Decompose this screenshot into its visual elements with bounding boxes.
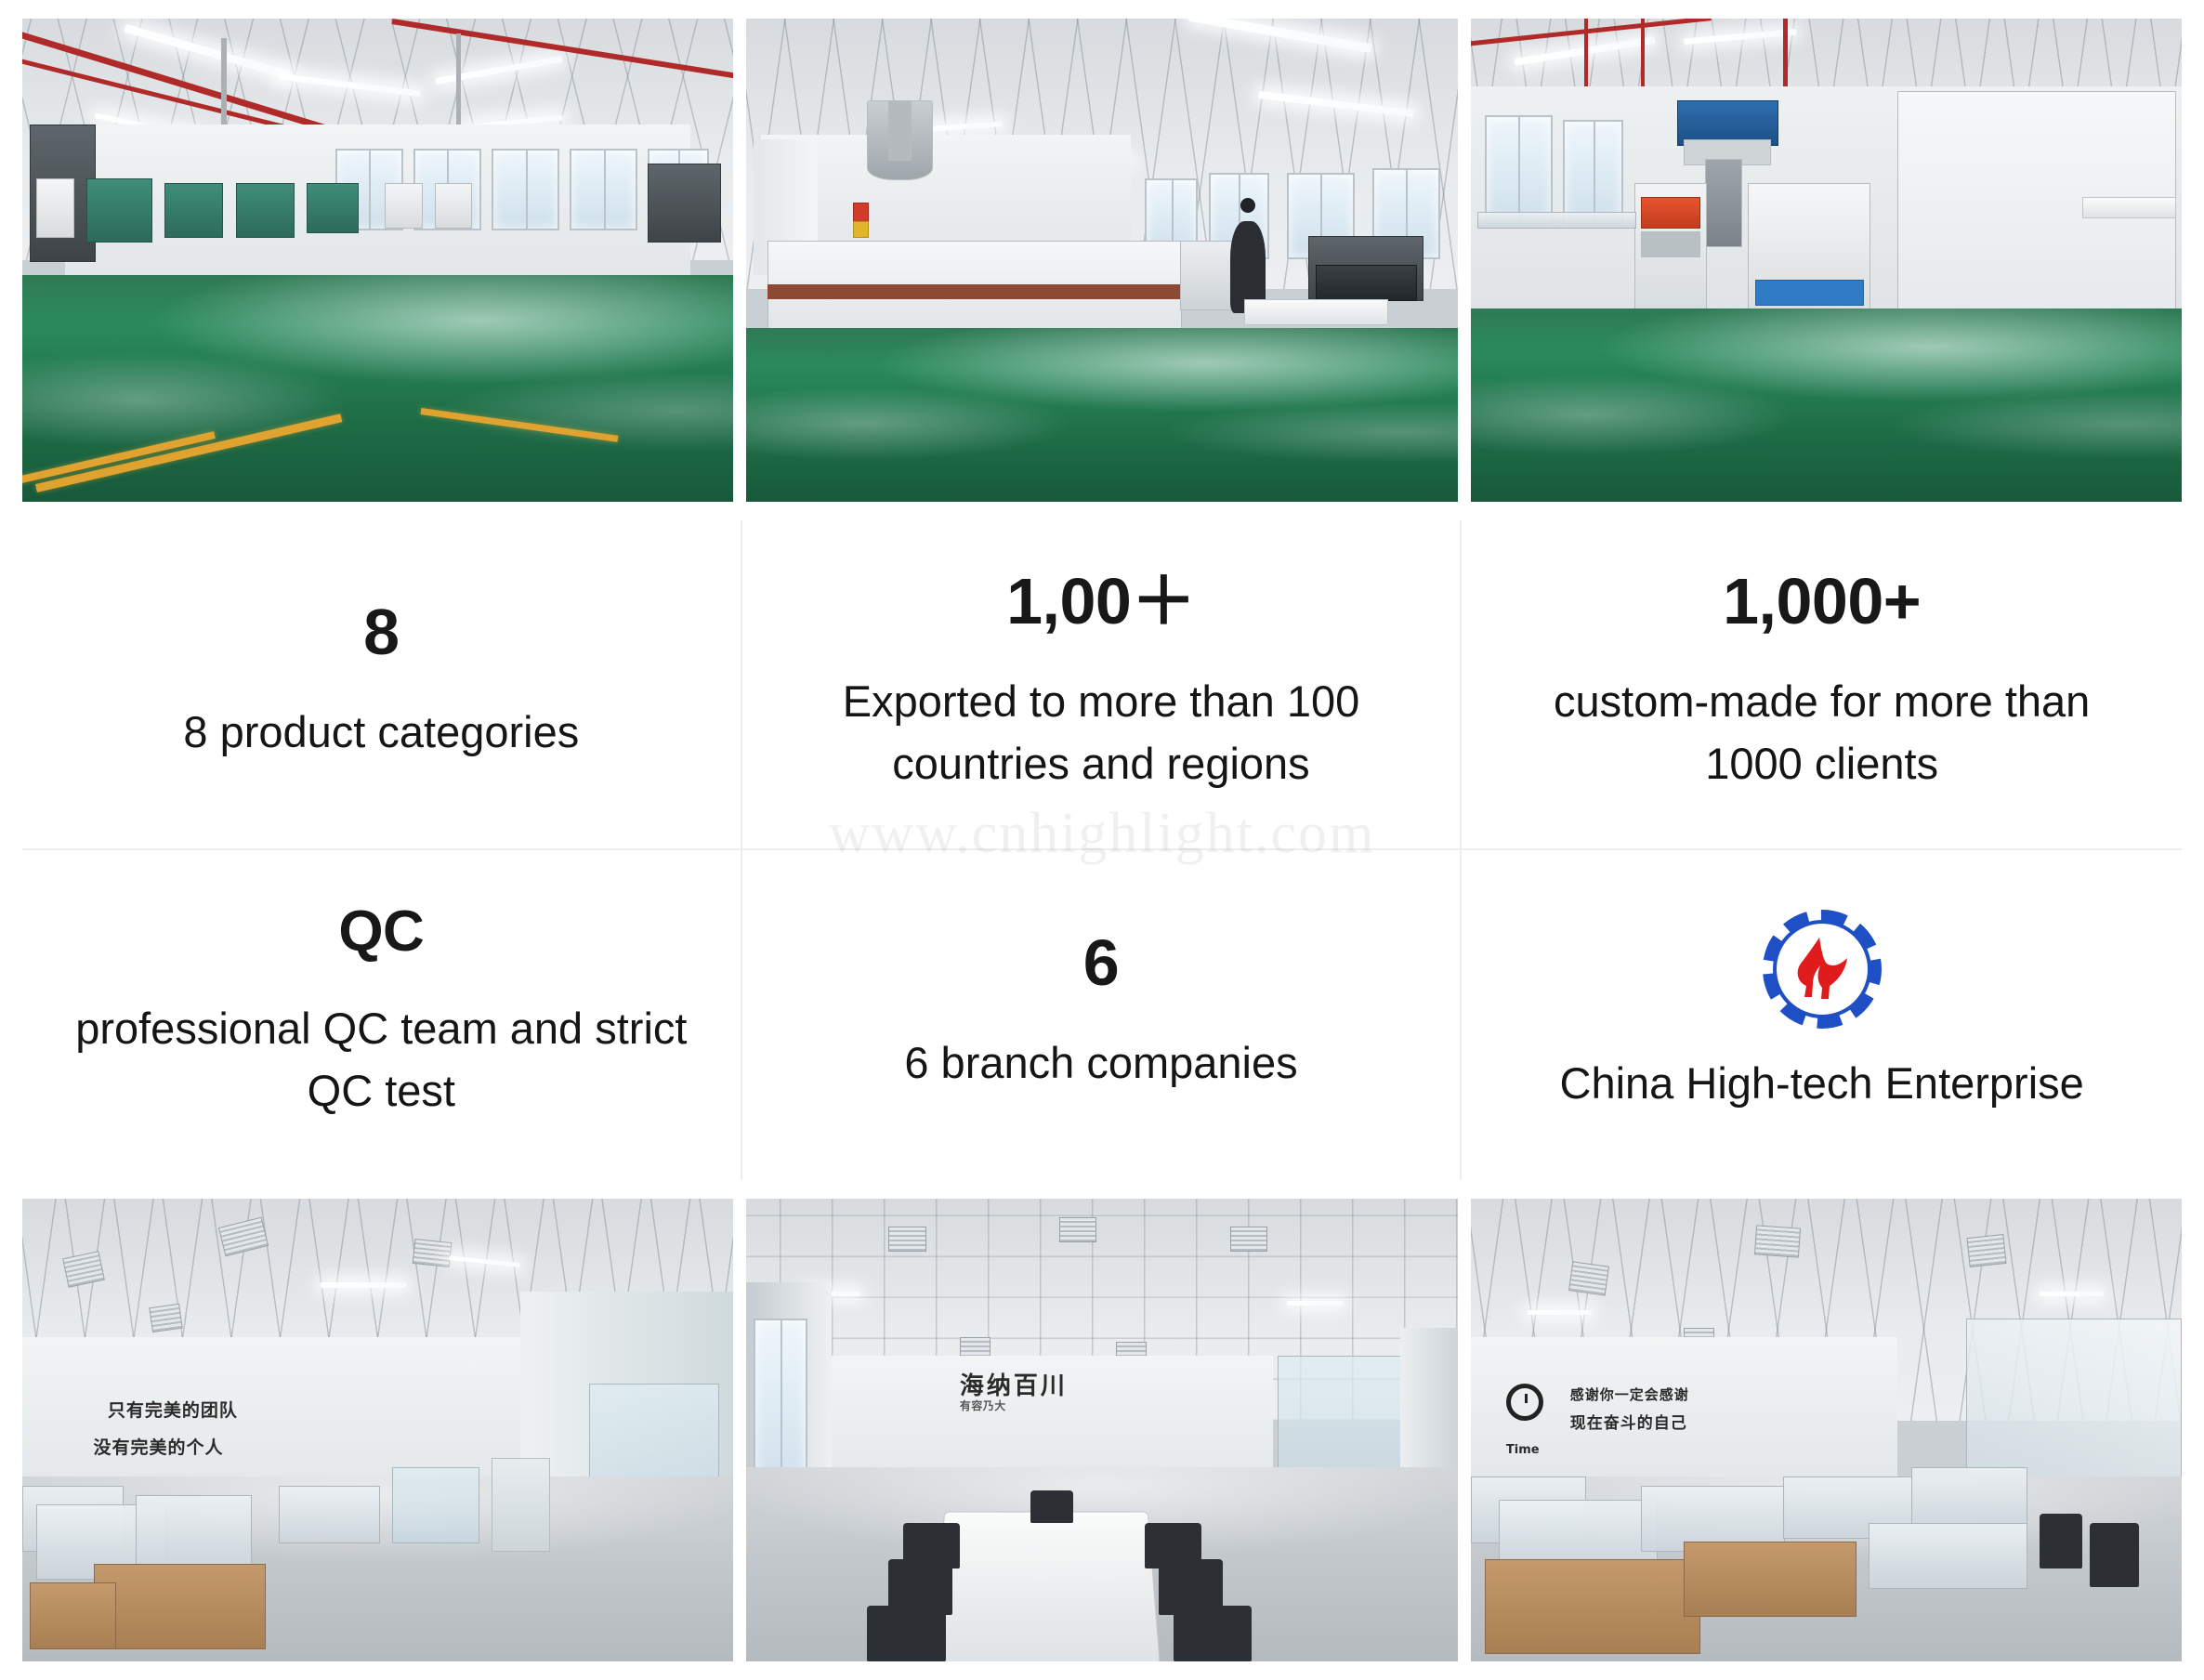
stat-number: 6 xyxy=(1083,930,1119,995)
stat-cell-high-tech-enterprise: China High-tech Enterprise xyxy=(1462,850,2182,1180)
stat-description: Exported to more than 100 countries and … xyxy=(785,671,1418,794)
stat-description: 6 branch companies xyxy=(904,1032,1297,1095)
stat-description: 8 product categories xyxy=(183,702,579,764)
stat-cell-custom-made-clients: 1,000+ custom-made for more than 1000 cl… xyxy=(1462,520,2182,850)
wall-decal-line2: 感谢你一定会感谢 xyxy=(1570,1386,1689,1403)
top-photo-row xyxy=(22,19,2182,502)
photo-conference-meeting-room: 海纳百川 有容乃大 xyxy=(746,1199,1457,1661)
wall-calligraphy-sub: 有容乃大 xyxy=(960,1400,1068,1412)
stat-cell-quality-control: QC professional QC team and strict QC te… xyxy=(22,850,742,1180)
wall-decal-line1: 只有完美的团队 xyxy=(108,1400,238,1421)
bottom-photo-row: 只有完美的团队 没有完美的个人 xyxy=(22,1199,2182,1661)
wall-decal-line1: 现在奋斗的自己 xyxy=(1570,1414,1687,1433)
stat-description: China High-tech Enterprise xyxy=(1560,1053,2084,1115)
china-high-tech-enterprise-logo xyxy=(1763,910,1882,1029)
stat-number: QC xyxy=(338,903,424,961)
stat-description: custom-made for more than 1000 clients xyxy=(1504,671,2139,794)
stat-number: 1,00＋ xyxy=(1006,569,1196,634)
photo-office-workstation-area: 感谢你一定会感谢 现在奋斗的自己 Time xyxy=(1471,1199,2182,1661)
photo-automated-dispensing-equipment xyxy=(1471,19,2182,502)
stat-number: 1,000+ xyxy=(1723,569,1921,634)
company-profile-infographic: 8 8 product categories 1,00＋ Exported to… xyxy=(0,0,2204,1680)
photo-reflow-oven-production-line xyxy=(746,19,1457,502)
stat-cell-product-categories: 8 8 product categories xyxy=(22,520,742,850)
stats-grid: 8 8 product categories 1,00＋ Exported to… xyxy=(22,520,2182,1180)
wall-calligraphy: 海纳百川 xyxy=(960,1372,1068,1400)
stat-description: professional QC team and strict QC test xyxy=(65,998,698,1122)
wall-decal-line2: 没有完美的个人 xyxy=(94,1437,224,1458)
stopwatch-icon xyxy=(1506,1384,1543,1421)
wall-decal-time-label: Time xyxy=(1506,1443,1540,1457)
stat-number: 8 xyxy=(363,599,399,664)
stat-cell-exported-countries: 1,00＋ Exported to more than 100 countrie… xyxy=(742,520,1463,850)
logo-flame-icon xyxy=(1791,936,1853,1003)
stat-cell-branch-companies: 6 6 branch companies xyxy=(742,850,1463,1180)
photo-open-plan-office-reception: 只有完美的团队 没有完美的个人 xyxy=(22,1199,733,1661)
photo-factory-production-workshop xyxy=(22,19,733,502)
